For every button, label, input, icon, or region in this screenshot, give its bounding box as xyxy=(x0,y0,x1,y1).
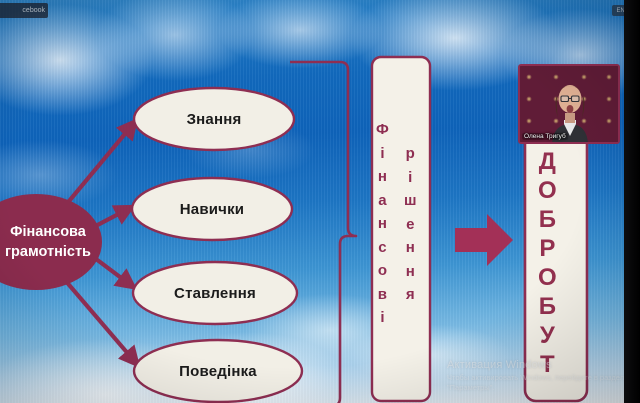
right-arrow-icon xyxy=(455,214,513,266)
financial-decisions-box xyxy=(372,57,430,401)
root-node-ellipse xyxy=(0,194,102,290)
grouping-bracket xyxy=(290,62,356,403)
financial-literacy-diagram xyxy=(0,0,640,403)
branch-oval-znannya xyxy=(134,88,294,150)
video-participant-tile[interactable]: Олена Тригуб xyxy=(518,64,620,144)
branch-oval-povedinka xyxy=(134,340,302,402)
participant-name-label: Олена Тригуб xyxy=(522,133,568,140)
screen: Фінансова грамотність Знання Навички Ста… xyxy=(0,0,640,403)
connector-to-povedinka xyxy=(58,272,136,363)
branch-oval-stavlennya xyxy=(133,262,297,324)
monitor-bezel-right xyxy=(624,0,640,403)
branch-oval-navychky xyxy=(132,178,292,240)
connector-to-znannya xyxy=(60,123,134,212)
browser-tab-chip[interactable]: cebook xyxy=(0,3,48,18)
